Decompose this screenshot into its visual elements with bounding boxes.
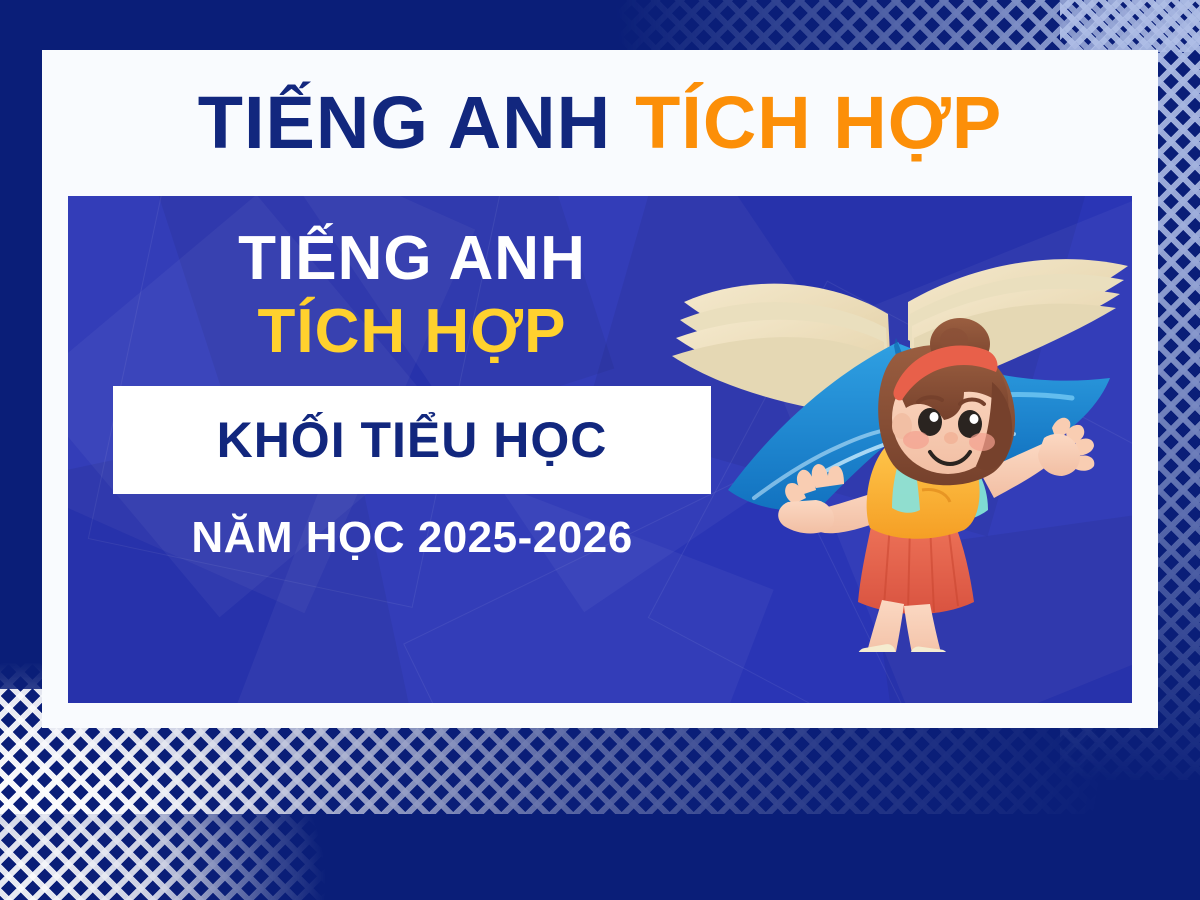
grade-level-label: KHỐI TIỂU HỌC	[217, 415, 608, 465]
white-card: TIẾNG ANH TÍCH HỢP	[42, 50, 1158, 728]
page-title: TIẾNG ANH TÍCH HỢP	[42, 50, 1158, 196]
school-year-label: NĂM HỌC 2025-2026	[92, 516, 732, 560]
grade-level-box: KHỐI TIỂU HỌC	[113, 386, 711, 494]
page-title-part1: TIẾNG ANH	[198, 86, 611, 160]
page-title-part2: TÍCH HỢP	[635, 86, 1002, 160]
blue-banner-panel: TIẾNG ANH TÍCH HỢP KHỐI TIỂU HỌC NĂM HỌC…	[68, 196, 1132, 703]
halftone-top-right-strip-icon	[510, 0, 1200, 52]
panel-text-stack: TIẾNG ANH TÍCH HỢP KHỐI TIỂU HỌC NĂM HỌC…	[92, 226, 732, 560]
poster-canvas: TIẾNG ANH TÍCH HỢP	[0, 0, 1200, 900]
panel-line-2: TÍCH HỢP	[92, 299, 732, 366]
panel-line-1: TIẾNG ANH	[92, 226, 732, 293]
